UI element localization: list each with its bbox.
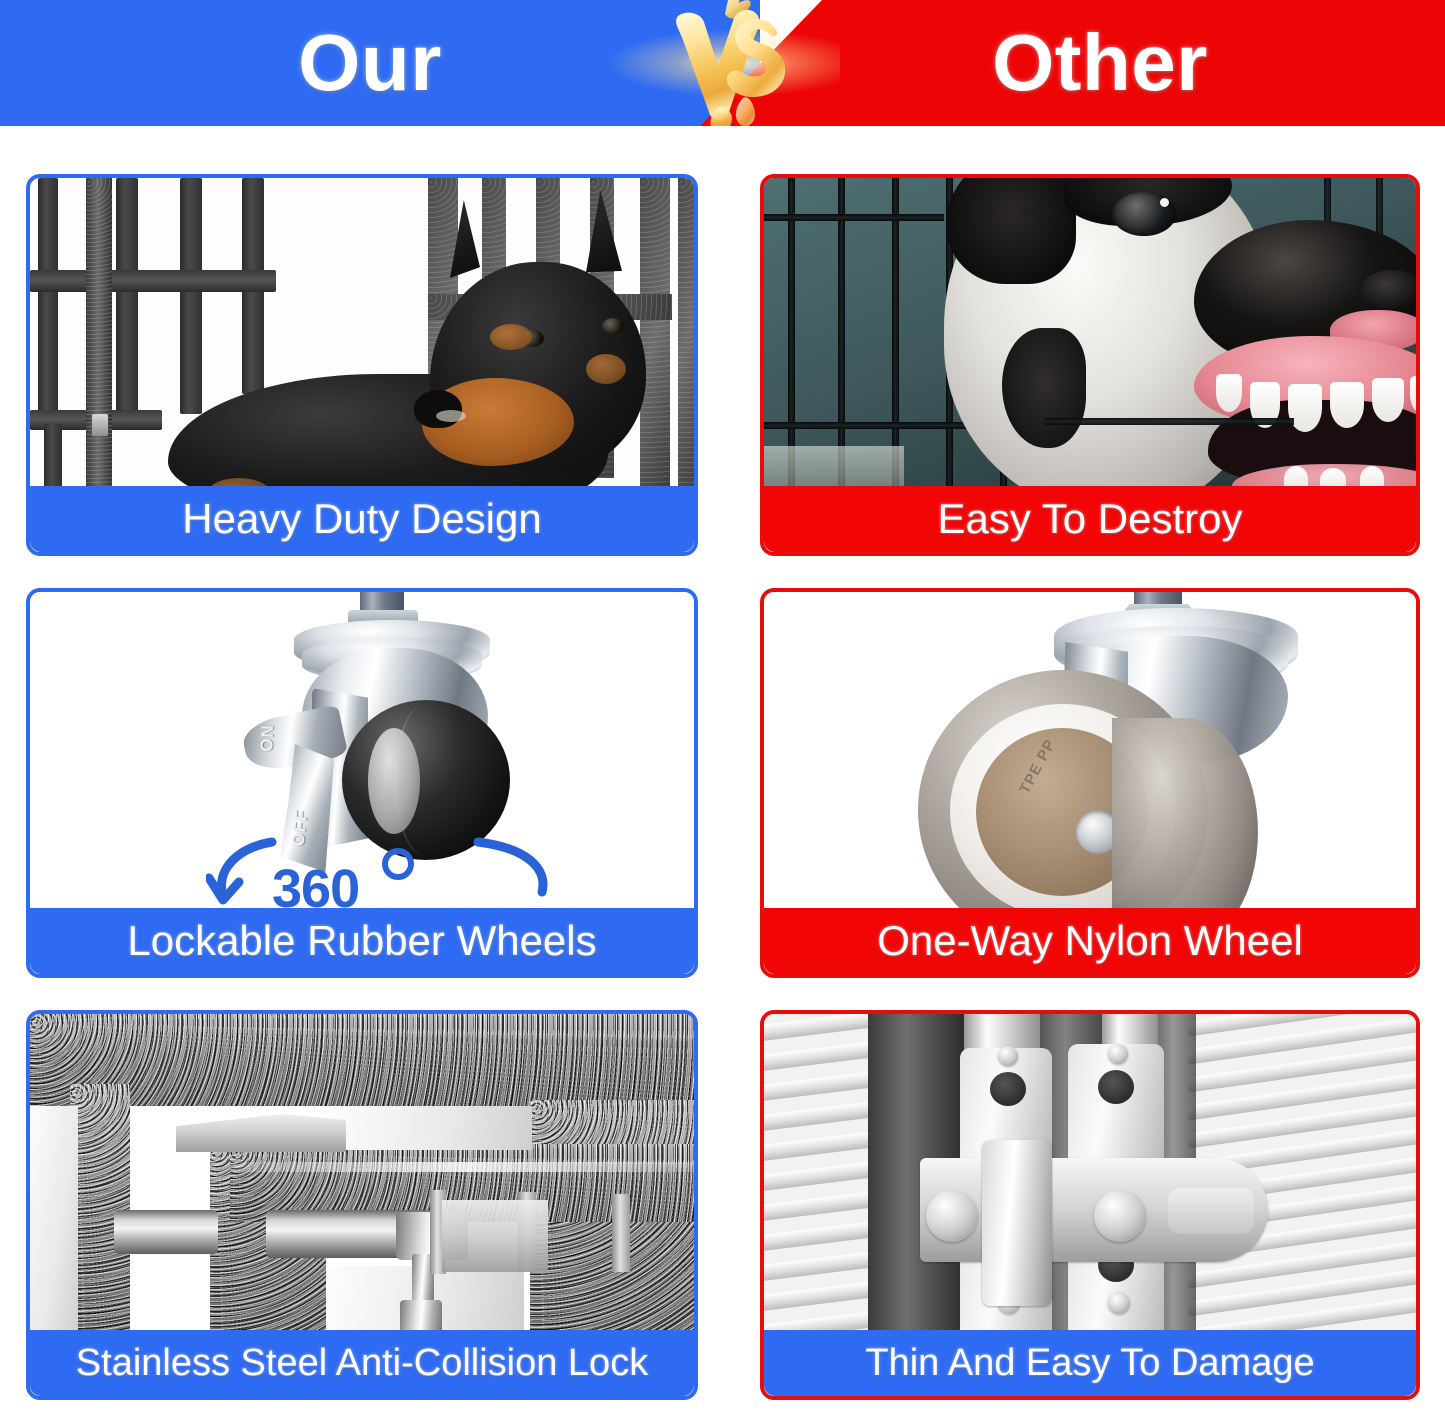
caption-text: Heavy Duty Design	[182, 495, 541, 543]
caption-bar: One-Way Nylon Wheel	[764, 908, 1416, 974]
degree-symbol-icon	[382, 848, 414, 880]
photo-lockable-rubber-caster: ON OFF 360	[30, 592, 694, 908]
header-right-label: Other	[992, 17, 1208, 109]
card-ours-anticollision-lock[interactable]: Stainless Steel Anti-Collision Lock	[26, 1010, 698, 1400]
card-other-thin-latch[interactable]: Thin And Easy To Damage	[760, 1010, 1420, 1400]
photo-husky-biting-wire-crate	[764, 178, 1416, 486]
header-right-title: Other	[790, 0, 1410, 126]
card-frame: Thin And Easy To Damage	[760, 1010, 1420, 1400]
comparison-grid: Heavy Duty Design	[0, 126, 1445, 1413]
photo-stainless-anticollision-lock	[30, 1014, 694, 1330]
card-ours-lockable-wheels[interactable]: ON OFF 360 Lockable Rubber Wheels	[26, 588, 698, 978]
card-frame: Heavy Duty Design	[26, 174, 698, 556]
caption-bar: Thin And Easy To Damage	[764, 1330, 1416, 1396]
comparison-infographic: Our Other	[0, 0, 1445, 1413]
card-other-one-way-wheel[interactable]: TPE PP One-Way Nylon Wheel	[760, 588, 1420, 978]
photo-thin-chrome-latch	[764, 1014, 1416, 1330]
card-frame: TPE PP One-Way Nylon Wheel	[760, 588, 1420, 978]
card-frame: ON OFF 360 Lockable Rubber Wheels	[26, 588, 698, 978]
card-frame: Stainless Steel Anti-Collision Lock	[26, 1010, 698, 1400]
caption-text: Easy To Destroy	[937, 495, 1242, 543]
card-other-easy-to-destroy[interactable]: Easy To Destroy	[760, 174, 1420, 556]
caption-bar: Heavy Duty Design	[30, 486, 694, 552]
photo-one-way-nylon-caster: TPE PP	[764, 592, 1416, 908]
caption-bar: Easy To Destroy	[764, 486, 1416, 552]
caption-text: Stainless Steel Anti-Collision Lock	[76, 1342, 648, 1385]
vs-icon	[655, 0, 805, 126]
caption-text: One-Way Nylon Wheel	[877, 917, 1303, 965]
card-frame: Easy To Destroy	[760, 174, 1420, 556]
card-ours-heavy-duty[interactable]: Heavy Duty Design	[26, 174, 698, 556]
header-left-title: Our	[60, 0, 680, 126]
rotation-degrees-value: 360	[272, 858, 359, 908]
lever-on-label: ON	[257, 724, 278, 752]
caption-bar: Stainless Steel Anti-Collision Lock	[30, 1330, 694, 1396]
caption-text: Thin And Easy To Damage	[865, 1342, 1314, 1385]
caption-bar: Lockable Rubber Wheels	[30, 908, 694, 974]
header-left-label: Our	[298, 17, 442, 109]
caption-text: Lockable Rubber Wheels	[127, 917, 596, 965]
header-banner: Our Other	[0, 0, 1445, 126]
photo-doberman-in-heavy-crate	[30, 178, 694, 486]
